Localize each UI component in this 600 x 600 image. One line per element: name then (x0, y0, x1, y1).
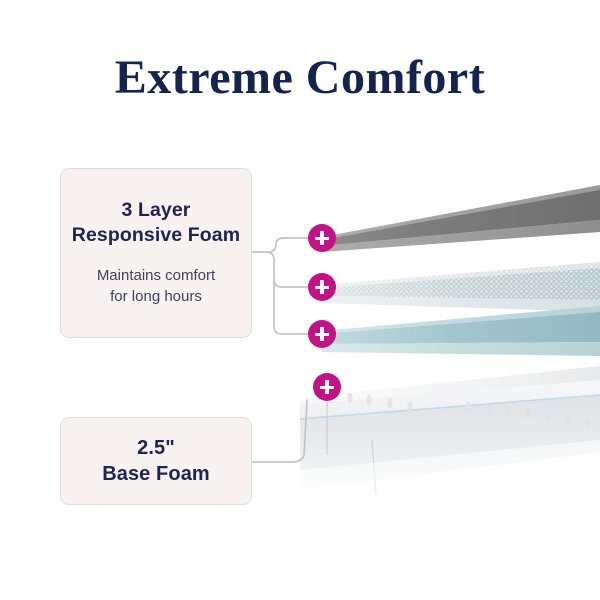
illustration-stage: Extreme Comfort (0, 0, 600, 600)
callout-base-foam[interactable]: 2.5" Base Foam (60, 417, 252, 505)
connector-branch-2 (274, 280, 312, 287)
plus-icon-layer-4[interactable] (313, 373, 341, 401)
connector-branch-1 (268, 238, 312, 252)
plus-icon-layer-3[interactable] (308, 320, 336, 348)
callout-responsive-foam-title-line1: 3 Layer (72, 198, 240, 223)
callout-base-foam-title: 2.5" Base Foam (102, 435, 210, 487)
connector-trunk-upper (252, 252, 312, 334)
callout-responsive-foam-subtitle-line1: Maintains comfort (97, 266, 215, 287)
callout-responsive-foam-subtitle-line2: for long hours (97, 287, 215, 308)
callout-responsive-foam-title: 3 Layer Responsive Foam (72, 198, 240, 248)
callout-base-foam-title-line1: 2.5" (102, 435, 210, 461)
callout-base-foam-title-line2: Base Foam (102, 461, 210, 487)
callout-responsive-foam[interactable]: 3 Layer Responsive Foam Maintains comfor… (60, 168, 252, 338)
plus-icon-layer-1[interactable] (308, 224, 336, 252)
plus-icon-layer-2[interactable] (308, 273, 336, 301)
connector-base (252, 400, 307, 462)
callout-responsive-foam-title-line2: Responsive Foam (72, 223, 240, 248)
callout-responsive-foam-subtitle: Maintains comfort for long hours (97, 266, 215, 307)
